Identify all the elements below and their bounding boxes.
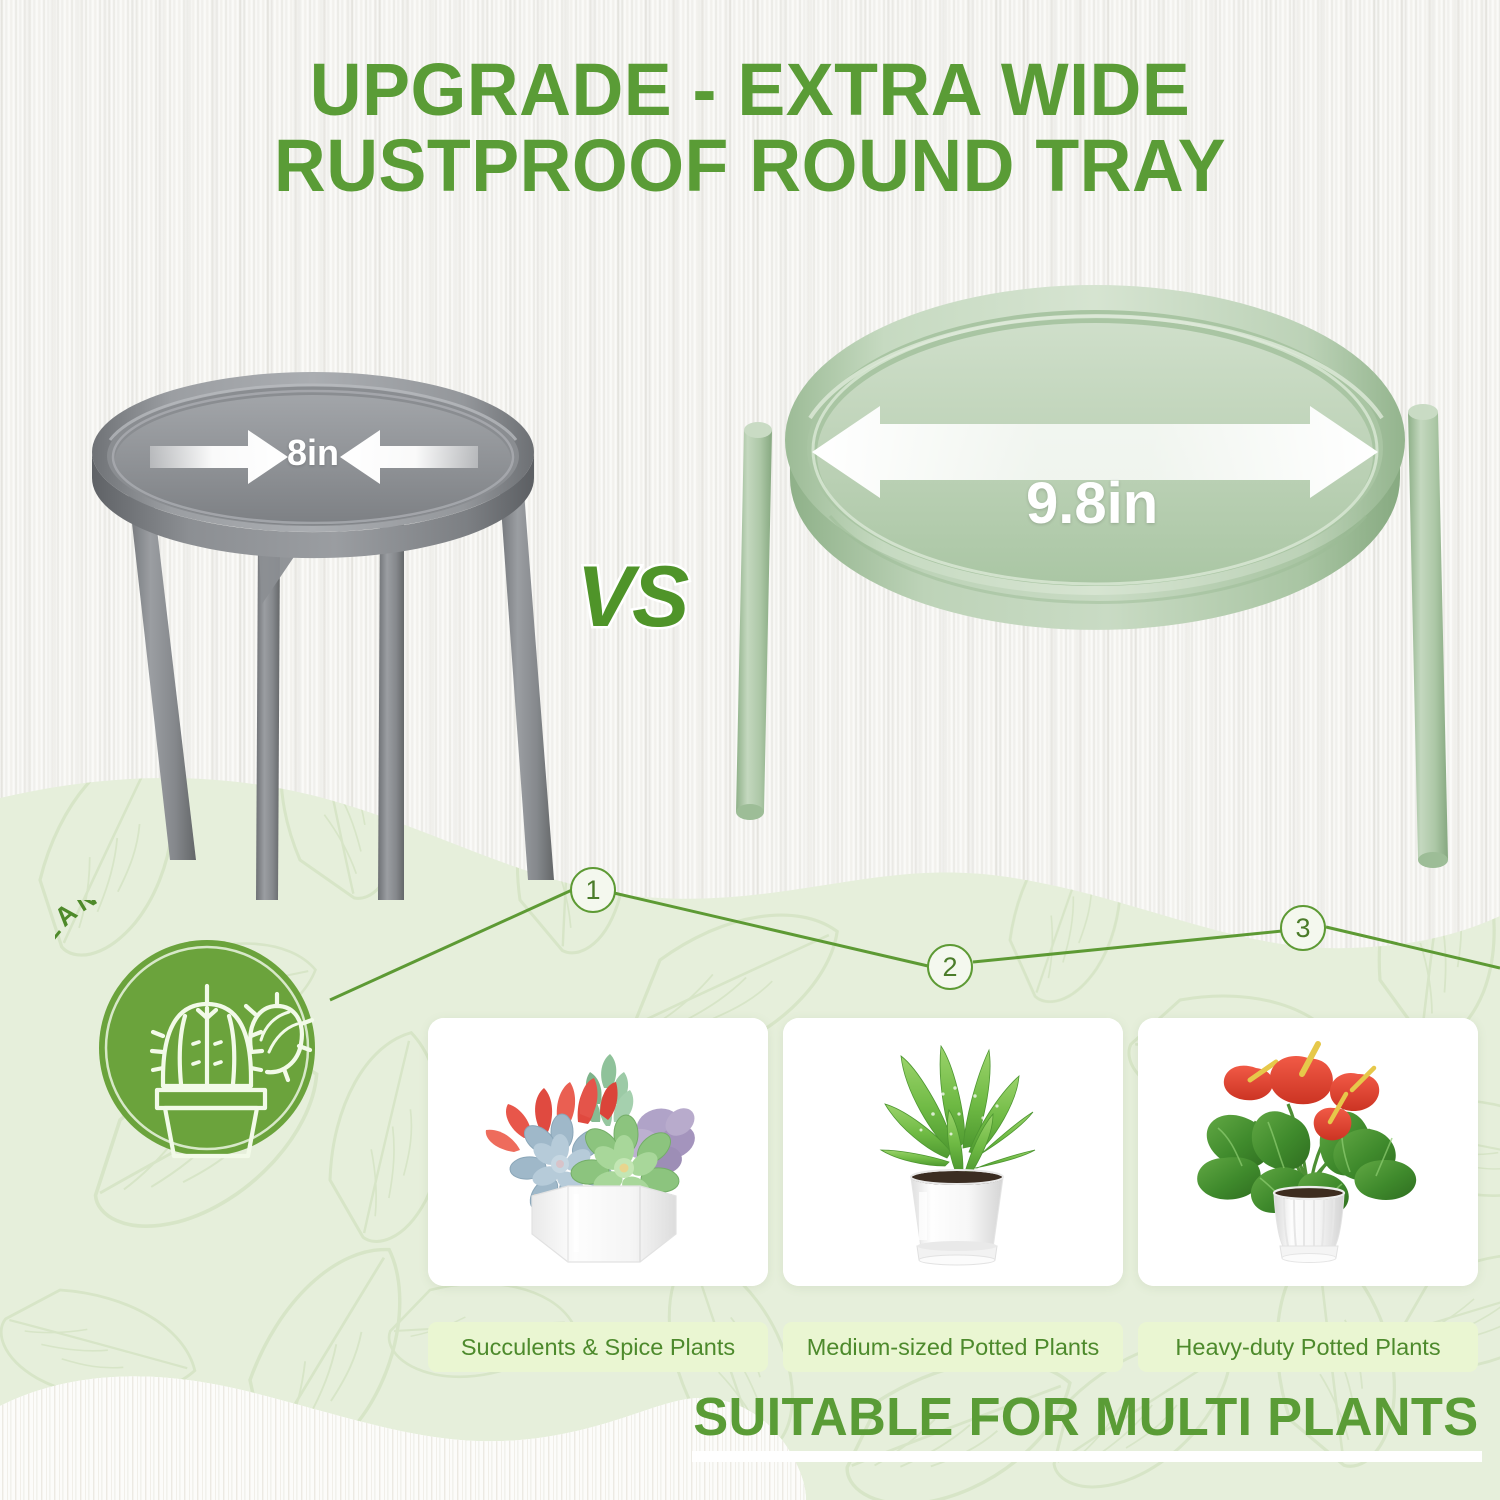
step-marker-3-label: 3 [1295,913,1310,944]
anthurium-plant-image [1138,1018,1478,1286]
plant-card-anthurium[interactable] [1138,1018,1478,1286]
step-marker-1-label: 1 [585,875,600,906]
potted-plant-badge: POTTED PLANT [55,900,395,1180]
aloe-vera-plant-image [783,1018,1123,1286]
plant-card-caption-1: Succulents & Spice Plants [428,1322,768,1372]
footer-banner-text: SUITABLE FOR MULTI PLANTS [693,1386,1478,1448]
headline-line-1: UPGRADE - EXTRA WIDE [23,52,1478,128]
page-title: UPGRADE - EXTRA WIDE RUSTPROOF ROUND TRA… [23,52,1478,204]
plant-card-caption-3: Heavy-duty Potted Plants [1138,1322,1478,1372]
dimension-label-new: 9.8in [1026,470,1158,537]
headline-line-2: RUSTPROOF ROUND TRAY [23,128,1478,204]
infographic-canvas: UPGRADE - EXTRA WIDE RUSTPROOF ROUND TRA… [0,0,1500,1500]
step-marker-1: 1 [570,867,616,913]
plant-card-succulents[interactable] [428,1018,768,1286]
caption-text-3: Heavy-duty Potted Plants [1175,1334,1440,1361]
succulent-arrangement-image [428,1018,768,1286]
step-marker-3: 3 [1280,905,1326,951]
versus-label: VS [577,548,688,647]
dimension-label-old: 8in [287,432,339,474]
step-marker-2-label: 2 [942,952,957,983]
plant-card-aloe[interactable] [783,1018,1123,1286]
caption-text-2: Medium-sized Potted Plants [807,1334,1100,1361]
plant-card-caption-2: Medium-sized Potted Plants [783,1322,1123,1372]
versus-badge: VS [572,548,692,647]
footer-underline [692,1451,1482,1462]
step-marker-2: 2 [927,944,973,990]
caption-text-1: Succulents & Spice Plants [461,1334,735,1361]
